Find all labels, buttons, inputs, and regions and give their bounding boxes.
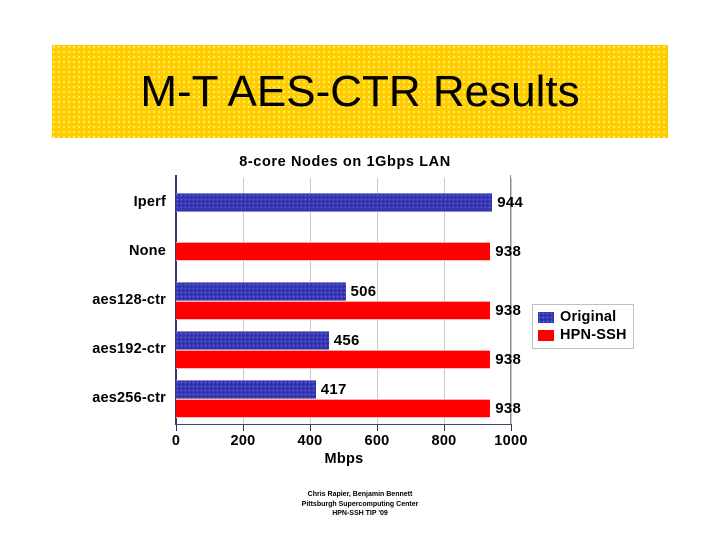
category-label: aes128-ctr	[46, 292, 166, 308]
category-label: aes192-ctr	[46, 341, 166, 357]
legend-item: HPN-SSH	[538, 326, 627, 344]
bar-hpnssh	[176, 242, 490, 261]
footer-line-authors: Chris Rapier, Benjamin Bennett	[0, 490, 720, 500]
x-tick-label: 600	[364, 433, 389, 449]
bar-original	[176, 331, 329, 350]
legend-label-hpnssh: HPN-SSH	[560, 327, 627, 343]
legend-label-original: Original	[560, 309, 616, 325]
bar-value-label: 506	[351, 282, 377, 301]
category-axis-labels: IperfNoneaes128-ctraes192-ctraes256-ctr	[46, 178, 166, 424]
legend-swatch-original-icon	[538, 312, 554, 323]
x-tick-mark	[511, 425, 512, 431]
x-axis-title: Mbps	[176, 451, 512, 467]
bar-value-label: 938	[495, 350, 521, 369]
x-tick-mark	[310, 425, 311, 431]
bar-value-label: 944	[497, 193, 523, 212]
category-label: Iperf	[46, 194, 166, 210]
x-tick-mark	[176, 425, 177, 431]
footer-line-organization: Pittsburgh Supercomputing Center	[0, 500, 720, 510]
footer-credits: Chris Rapier, Benjamin Bennett Pittsburg…	[0, 490, 720, 519]
x-tick-label: 0	[172, 433, 180, 449]
category-label: None	[46, 243, 166, 259]
bar-original	[176, 193, 492, 212]
bar-value-label: 938	[495, 399, 521, 418]
plot-area: 944938506938456938417938	[176, 178, 511, 424]
bar-hpnssh	[176, 399, 490, 418]
bar-hpnssh	[176, 301, 490, 320]
x-tick-mark	[377, 425, 378, 431]
bar-original	[176, 380, 316, 399]
title-banner: M-T AES-CTR Results	[52, 45, 668, 138]
x-tick-mark	[444, 425, 445, 431]
legend-swatch-hpnssh-icon	[538, 330, 554, 341]
bar-hpnssh	[176, 350, 490, 369]
bar-value-label: 417	[321, 380, 347, 399]
footer-line-event: HPN-SSH TIP '09	[0, 509, 720, 519]
bar-value-label: 938	[495, 301, 521, 320]
x-tick-label: 800	[431, 433, 456, 449]
chart-legend: Original HPN-SSH	[532, 304, 634, 349]
x-tick-label: 400	[297, 433, 322, 449]
bar-value-label: 456	[334, 331, 360, 350]
bar-original	[176, 282, 346, 301]
x-tick-label: 200	[230, 433, 255, 449]
chart: 8-core Nodes on 1Gbps LAN IperfNoneaes12…	[0, 140, 720, 485]
bar-value-label: 938	[495, 242, 521, 261]
x-tick-mark	[243, 425, 244, 431]
x-tick-label: 1000	[494, 433, 527, 449]
category-label: aes256-ctr	[46, 390, 166, 406]
chart-title: 8-core Nodes on 1Gbps LAN	[0, 154, 690, 170]
legend-item: Original	[538, 308, 627, 326]
page-title: M-T AES-CTR Results	[140, 67, 579, 117]
